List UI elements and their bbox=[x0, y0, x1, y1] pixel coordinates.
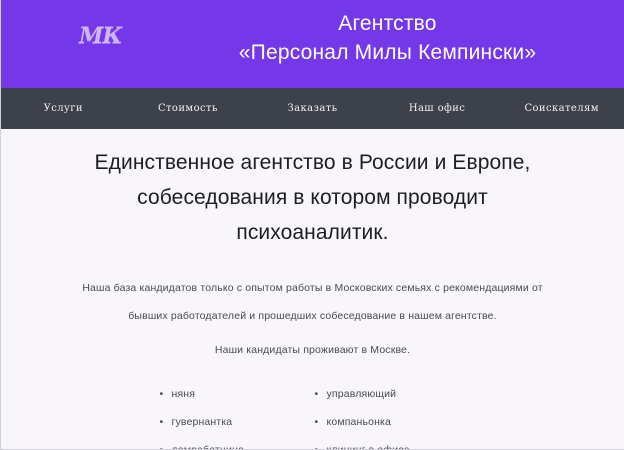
service-label: клининг в офисе bbox=[327, 444, 410, 450]
bullet-icon: • bbox=[160, 443, 164, 450]
brand-logo-monogram[interactable]: МК bbox=[79, 23, 121, 49]
services-lists: • няня • гувернантка • домработница • уп… bbox=[1, 360, 624, 450]
site-title-line-1: Агентство bbox=[151, 9, 624, 38]
nav-item-for-applicants[interactable]: Соискателям bbox=[499, 103, 624, 114]
list-item[interactable]: • клининг в офисе bbox=[313, 443, 468, 450]
site-title-line-2: «Персонал Милы Кемпински» bbox=[151, 38, 624, 68]
bullet-icon: • bbox=[315, 415, 319, 429]
page-root: МК Агентство «Персонал Милы Кемпински» У… bbox=[0, 0, 624, 450]
nav-item-order[interactable]: Заказать bbox=[250, 103, 375, 114]
service-label: гувернантка bbox=[172, 416, 233, 428]
intro-line-2: бывших работодателей и прошедших собесед… bbox=[128, 310, 496, 322]
site-header: МК Агентство «Персонал Милы Кемпински» bbox=[1, 0, 624, 88]
service-label: домработница bbox=[172, 444, 245, 450]
bullet-icon: • bbox=[160, 387, 164, 401]
service-label: управляющий bbox=[327, 388, 397, 400]
services-list-right: • управляющий • компаньонка • клининг в … bbox=[313, 387, 468, 450]
nav-item-services[interactable]: Услуги bbox=[1, 103, 126, 114]
site-title-block: Агентство «Персонал Милы Кемпински» bbox=[151, 9, 624, 68]
intro-line-1: Наша база кандидатов только с опытом раб… bbox=[82, 282, 542, 294]
location-note: Наши кандидаты проживают в Москве. bbox=[1, 330, 624, 360]
list-item[interactable]: • домработница bbox=[158, 443, 313, 450]
bullet-icon: • bbox=[160, 415, 164, 429]
page-headline: Единственное агентство в России и Европе… bbox=[1, 129, 624, 250]
service-label: няня bbox=[172, 388, 196, 400]
nav-item-pricing[interactable]: Стоимость bbox=[126, 103, 251, 114]
list-item[interactable]: • гувернантка bbox=[158, 415, 313, 429]
main-navigation: Услуги Стоимость Заказать Наш офис Соиск… bbox=[1, 88, 624, 129]
bullet-icon: • bbox=[315, 443, 319, 450]
services-list-left: • няня • гувернантка • домработница bbox=[158, 387, 313, 450]
service-label: компаньонка bbox=[327, 416, 392, 428]
list-item[interactable]: • няня bbox=[158, 387, 313, 401]
main-content: Единственное агентство в России и Европе… bbox=[1, 129, 624, 449]
list-item[interactable]: • управляющий bbox=[313, 387, 468, 401]
intro-paragraph: Наша база кандидатов только с опытом раб… bbox=[1, 250, 624, 330]
nav-item-our-office[interactable]: Наш офис bbox=[375, 103, 500, 114]
list-item[interactable]: • компаньонка bbox=[313, 415, 468, 429]
bullet-icon: • bbox=[315, 387, 319, 401]
